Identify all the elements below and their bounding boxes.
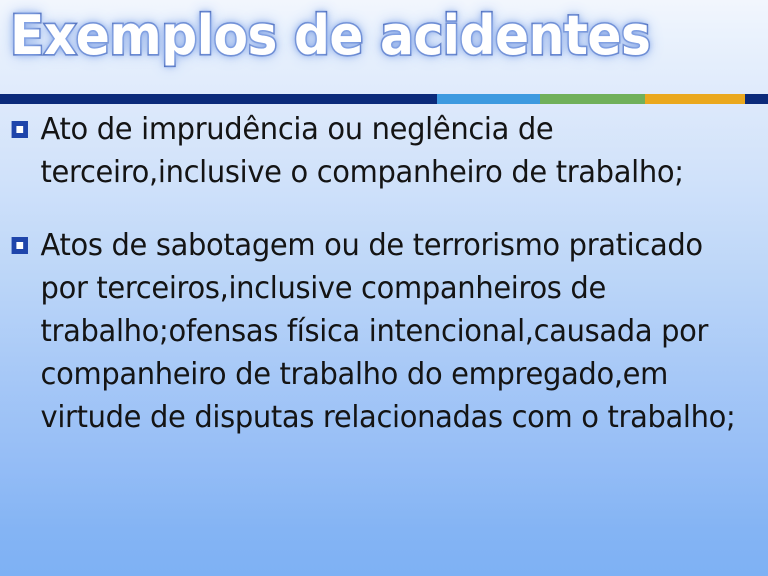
slide-title-area: Exemplos de acidentes — [0, 0, 768, 92]
square-bullet-icon — [12, 121, 28, 138]
segment-navy-left — [0, 94, 437, 104]
title-divider-bar — [0, 94, 768, 104]
segment-light-blue — [437, 94, 540, 104]
segment-green — [540, 94, 645, 104]
page-title: Exemplos de acidentes — [10, 7, 650, 65]
segment-orange — [645, 94, 745, 104]
bullet-text: Atos de sabotagem ou de terrorismo prati… — [41, 224, 742, 439]
square-bullet-icon — [12, 237, 28, 254]
list-item: Atos de sabotagem ou de terrorismo prati… — [0, 224, 741, 439]
segment-navy-right — [745, 94, 768, 104]
list-item: Ato de imprudência ou neglência de terce… — [0, 108, 741, 194]
presentation-slide: Exemplos de acidentes Ato de imprudência… — [0, 0, 768, 576]
bullet-text: Ato de imprudência ou neglência de terce… — [41, 108, 742, 194]
slide-body: Ato de imprudência ou neglência de terce… — [0, 108, 768, 439]
